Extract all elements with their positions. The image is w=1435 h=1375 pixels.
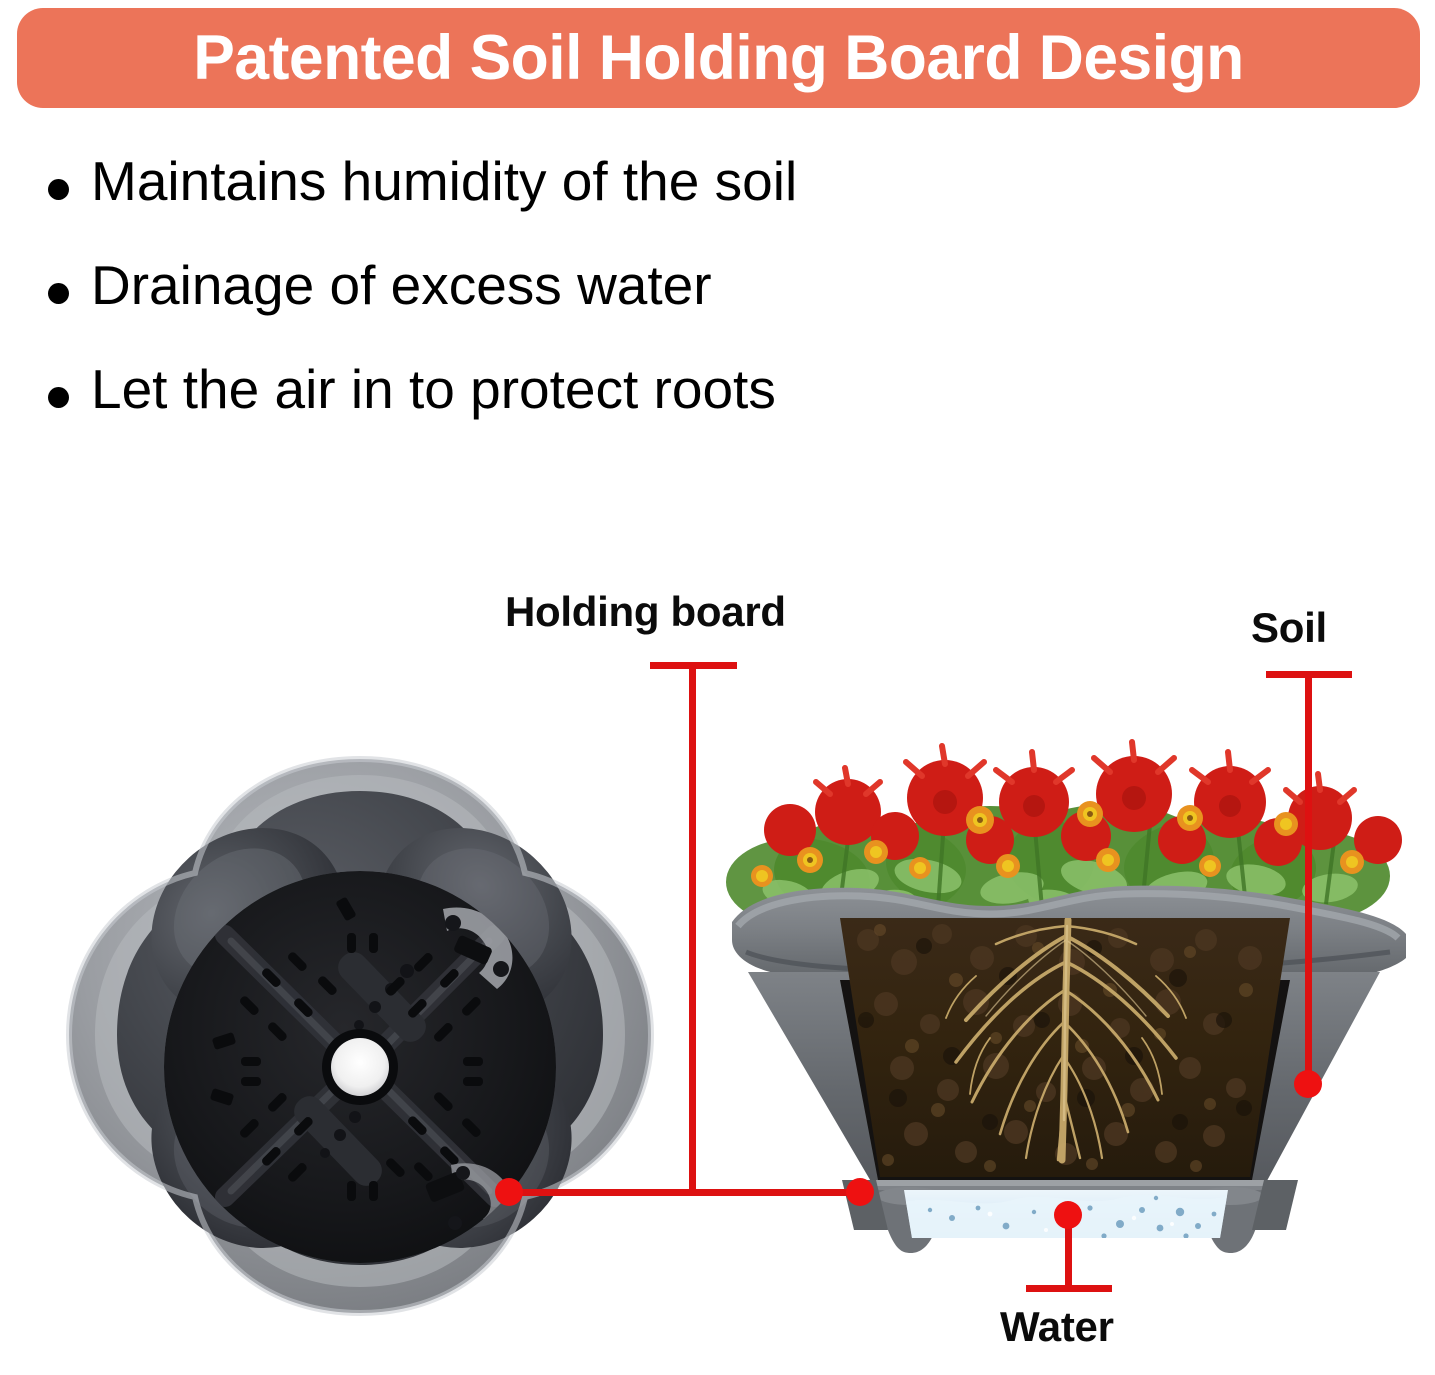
feature-list: Maintains humidity of the soil Drainage … xyxy=(48,152,1148,464)
list-item: Maintains humidity of the soil xyxy=(48,152,1148,256)
soil-layer xyxy=(830,910,1300,1190)
soil-leader-cap xyxy=(1266,671,1352,678)
water-reservoir xyxy=(900,1186,1236,1246)
callout-label-holding-board: Holding board xyxy=(505,588,786,636)
page-title: Patented Soil Holding Board Design xyxy=(193,27,1243,90)
feature-text: Drainage of excess water xyxy=(91,256,712,315)
list-item: Let the air in to protect roots xyxy=(48,360,1148,464)
holding-board-leader-cap xyxy=(650,662,737,669)
list-item: Drainage of excess water xyxy=(48,256,1148,360)
top-view-planter-image xyxy=(55,745,665,1355)
water-leader-cap xyxy=(1026,1285,1112,1292)
feature-text: Let the air in to protect roots xyxy=(91,360,776,419)
bullet-dot-icon xyxy=(48,283,69,304)
feature-text: Maintains humidity of the soil xyxy=(91,152,797,211)
header-banner: Patented Soil Holding Board Design xyxy=(17,8,1420,108)
center-drain-hole xyxy=(331,1038,389,1096)
cross-section-planter-image xyxy=(690,690,1435,1270)
bullet-dot-icon xyxy=(48,387,69,408)
callout-label-water: Water xyxy=(1000,1303,1114,1351)
holding-board-insert xyxy=(164,871,556,1263)
callout-label-soil: Soil xyxy=(1251,604,1327,652)
infographic-page: Patented Soil Holding Board Design Maint… xyxy=(0,0,1435,1375)
bullet-dot-icon xyxy=(48,179,69,200)
